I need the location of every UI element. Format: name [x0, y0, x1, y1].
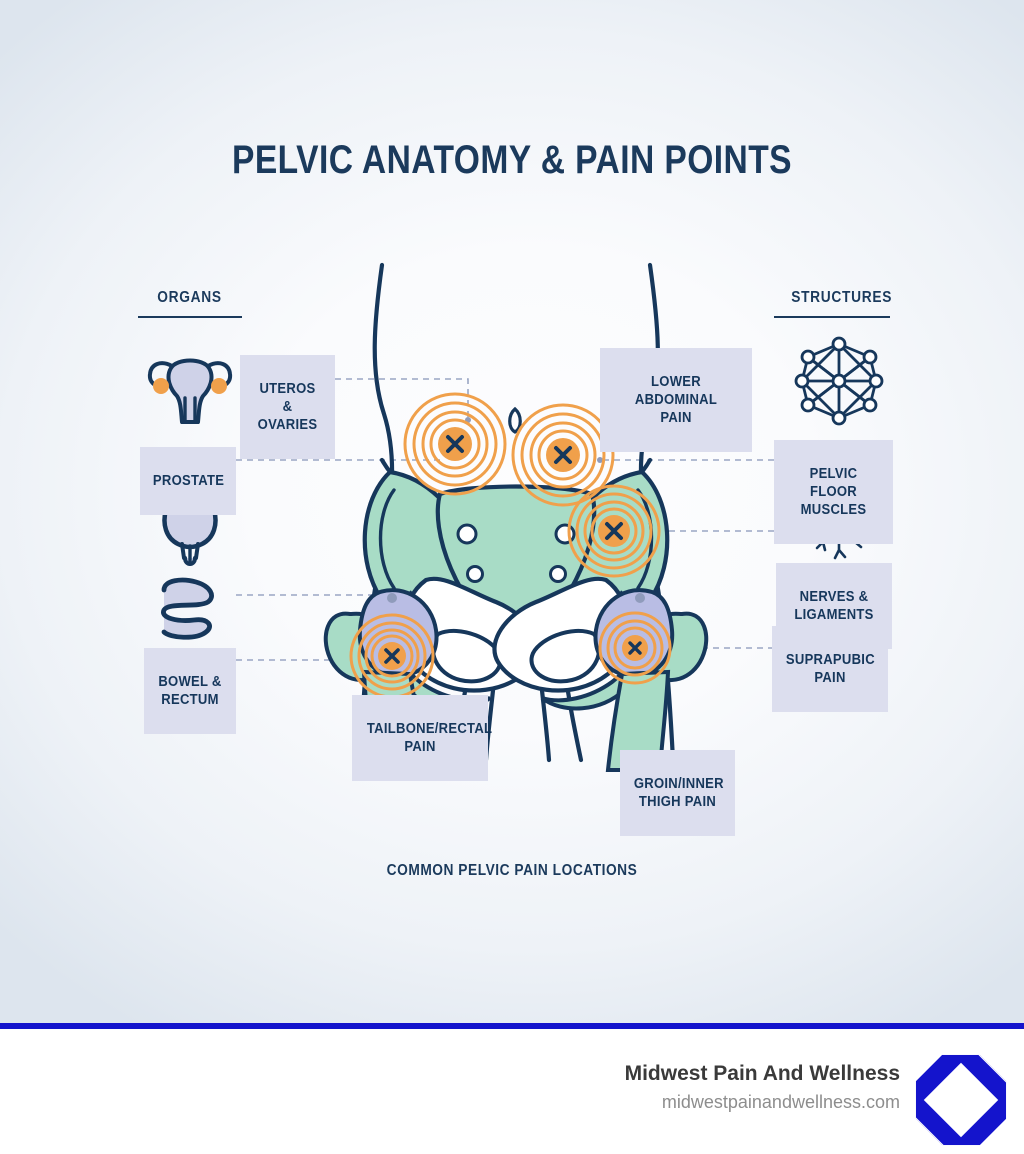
chip-nerves-ligaments-label: NERVES & LIGAMENTS: [790, 588, 878, 624]
brand-url[interactable]: midwestpainandwellness.com: [662, 1092, 900, 1113]
chip-lower-abdominal-pain[interactable]: LOWER ABDOMINAL PAIN: [600, 348, 752, 452]
chip-pelvic-floor-muscles[interactable]: PELVIC FLOOR MUSCLES: [774, 440, 893, 544]
chip-bowel-rectum[interactable]: BOWEL & RECTUM: [144, 648, 236, 734]
chip-pelvic-floor-muscles-label: PELVIC FLOOR MUSCLES: [788, 465, 879, 519]
bowel-icon: [152, 574, 228, 646]
chip-groin-inner-thigh-pain[interactable]: GROIN/INNER THIGH PAIN: [620, 750, 735, 836]
muscle-network-icon: [794, 336, 884, 426]
chip-uteros-ovaries-label: UTEROS & OVARIES: [253, 380, 322, 434]
pain-marker-right-femur: [597, 610, 677, 690]
chip-suprapubic-pain[interactable]: SUPRAPUBIC PAIN: [772, 626, 888, 712]
chip-suprapubic-pain-label: SUPRAPUBIC PAIN: [786, 651, 874, 687]
chip-tailbone-rectal-pain-label: TAILBONE/RECTAL PAIN: [367, 720, 473, 756]
chip-uteros-ovaries[interactable]: UTEROS & OVARIES: [240, 355, 335, 459]
chip-prostate-label: PROSTATE: [153, 472, 223, 490]
chip-bowel-rectum-label: BOWEL & RECTUM: [157, 673, 224, 709]
pain-marker-left-abdomen: [400, 389, 510, 499]
chip-lower-abdominal-pain-label: LOWER ABDOMINAL PAIN: [616, 373, 737, 427]
pain-marker-right-hip: [564, 481, 664, 581]
pain-marker-left-femur: [347, 611, 437, 701]
chip-groin-inner-thigh-pain-label: GROIN/INNER THIGH PAIN: [634, 775, 721, 811]
octagon-pinwheel-logo: [914, 1053, 1008, 1147]
chip-prostate[interactable]: PROSTATE: [140, 447, 236, 515]
chip-tailbone-rectal-pain[interactable]: TAILBONE/RECTAL PAIN: [352, 695, 488, 781]
uterus-ovaries-icon: [141, 346, 239, 428]
diagram-caption: COMMON PELVIC PAIN LOCATIONS: [72, 862, 953, 880]
brand-name: Midwest Pain And Wellness: [625, 1062, 900, 1086]
infographic-poster: PELVIC ANATOMY & PAIN POINTS ORGANS STRU…: [0, 0, 1024, 1154]
